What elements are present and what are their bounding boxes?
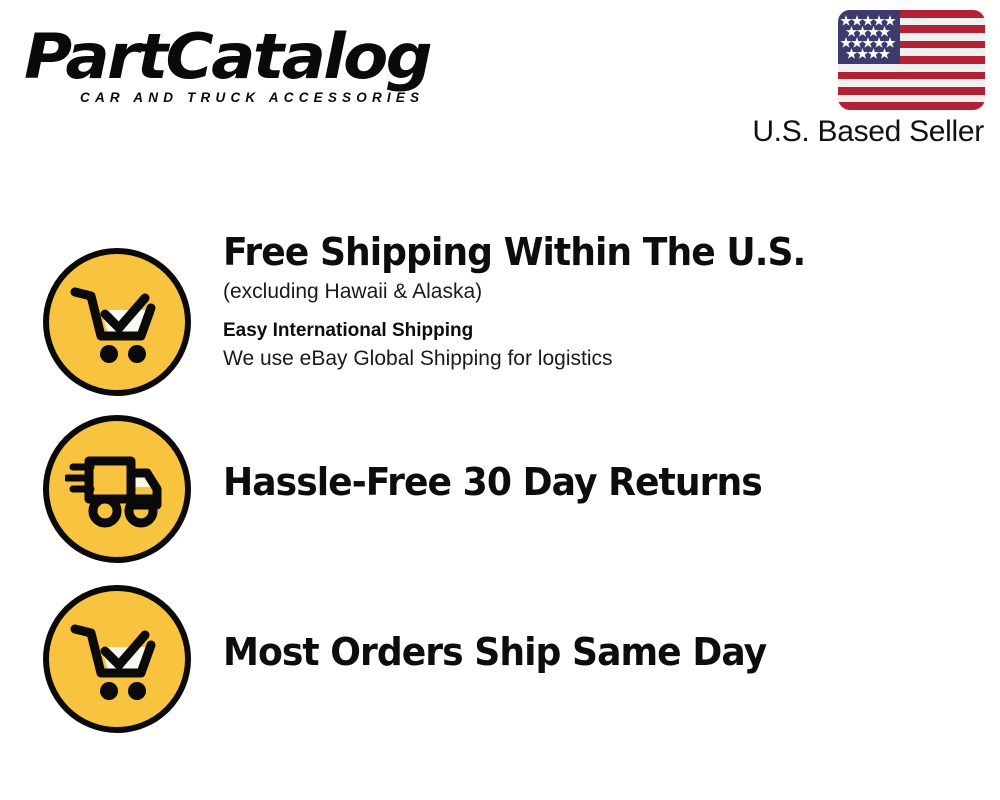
feature-subline-secondary: We use eBay Global Shipping for logistic… [223, 345, 983, 373]
flag-stars-icon [838, 10, 900, 64]
feature-headline: Most Orders Ship Same Day [223, 630, 945, 674]
feature-row: Hassle-Free 30 Day Returns [0, 415, 1000, 570]
shopping-cart-check-icon [43, 585, 191, 733]
feature-subheadline: Easy International Shipping [223, 318, 983, 344]
feature-subline: (excluding Hawaii & Alaska) [223, 278, 983, 306]
feature-headline: Free Shipping Within The U.S. [223, 230, 945, 274]
feature-headline: Hassle-Free 30 Day Returns [223, 460, 945, 504]
promo-banner-page: { "brand": { "logo_word": "PartCatalog",… [0, 0, 1000, 800]
feature-text-block: Most Orders Ship Same Day [223, 630, 983, 674]
us-flag-icon [838, 10, 985, 110]
brand-logo[interactable]: PartCatalog CAR AND TRUCK ACCESSORIES [24, 26, 494, 105]
delivery-truck-icon [43, 415, 191, 563]
us-based-seller-label: U.S. Based Seller [752, 115, 984, 149]
flag-canton [838, 10, 900, 64]
feature-row: Free Shipping Within The U.S. (excluding… [0, 230, 1000, 400]
feature-text-block: Hassle-Free 30 Day Returns [223, 460, 983, 504]
shopping-cart-check-icon [43, 248, 191, 396]
brand-logo-wordmark: PartCatalog [24, 26, 522, 88]
feature-row: Most Orders Ship Same Day [0, 585, 1000, 740]
page-header: PartCatalog CAR AND TRUCK ACCESSORIES [0, 0, 1000, 175]
feature-text-block: Free Shipping Within The U.S. (excluding… [223, 230, 983, 373]
